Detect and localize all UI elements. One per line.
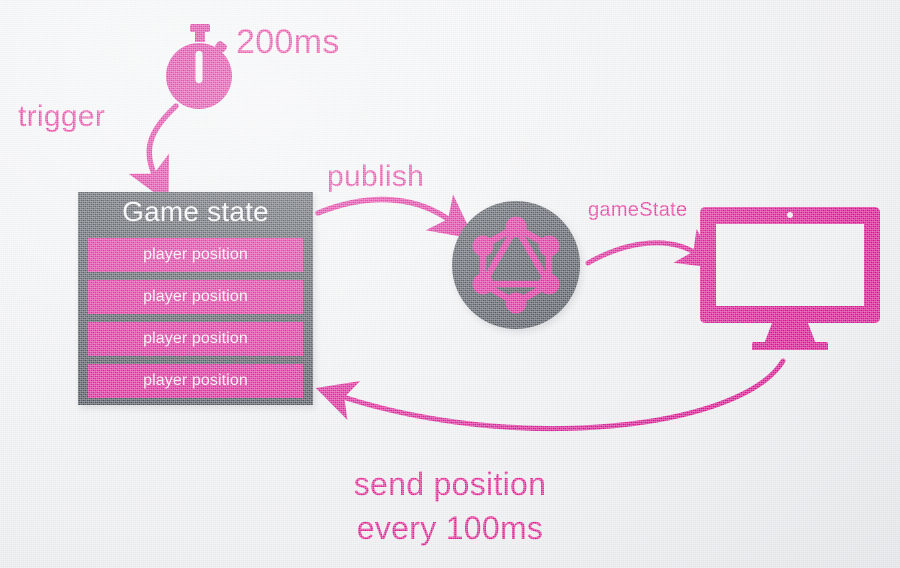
player-position-row[interactable]: player position	[88, 280, 303, 314]
player-position-row[interactable]: player position	[88, 364, 303, 398]
player-position-row[interactable]: player position	[88, 238, 303, 272]
player-position-label: player position	[143, 330, 248, 348]
game-state-title: Game state	[78, 196, 313, 228]
arrow-trigger	[149, 106, 176, 178]
player-position-label: player position	[143, 288, 248, 306]
arrow-label-gamestate: gameState	[588, 199, 687, 222]
arrow-gamestate	[588, 243, 697, 263]
monitor-icon[interactable]	[700, 202, 880, 350]
stopwatch-icon	[160, 24, 240, 112]
stopwatch-glyph	[160, 24, 240, 112]
game-state-panel[interactable]: Game state player position player positi…	[78, 192, 313, 405]
player-position-label: player position	[143, 246, 248, 264]
monitor-glyph	[700, 202, 880, 350]
player-position-row[interactable]: player position	[88, 322, 303, 356]
arrow-send-position	[340, 361, 783, 429]
timer-interval-label: 200ms	[236, 23, 340, 62]
arrow-label-trigger: trigger	[18, 100, 105, 134]
arrow-label-send-position: send position every 100ms	[0, 462, 900, 550]
graphql-logo-icon	[452, 201, 580, 329]
diagram-canvas: 200ms trigger Game state player position…	[0, 0, 900, 568]
arrow-label-publish: publish	[327, 160, 424, 194]
player-position-label: player position	[143, 372, 248, 390]
send-position-line1: send position	[0, 462, 900, 506]
send-position-line2: every 100ms	[0, 506, 900, 550]
graphql-server-badge[interactable]	[452, 201, 580, 329]
arrow-publish	[318, 200, 452, 222]
